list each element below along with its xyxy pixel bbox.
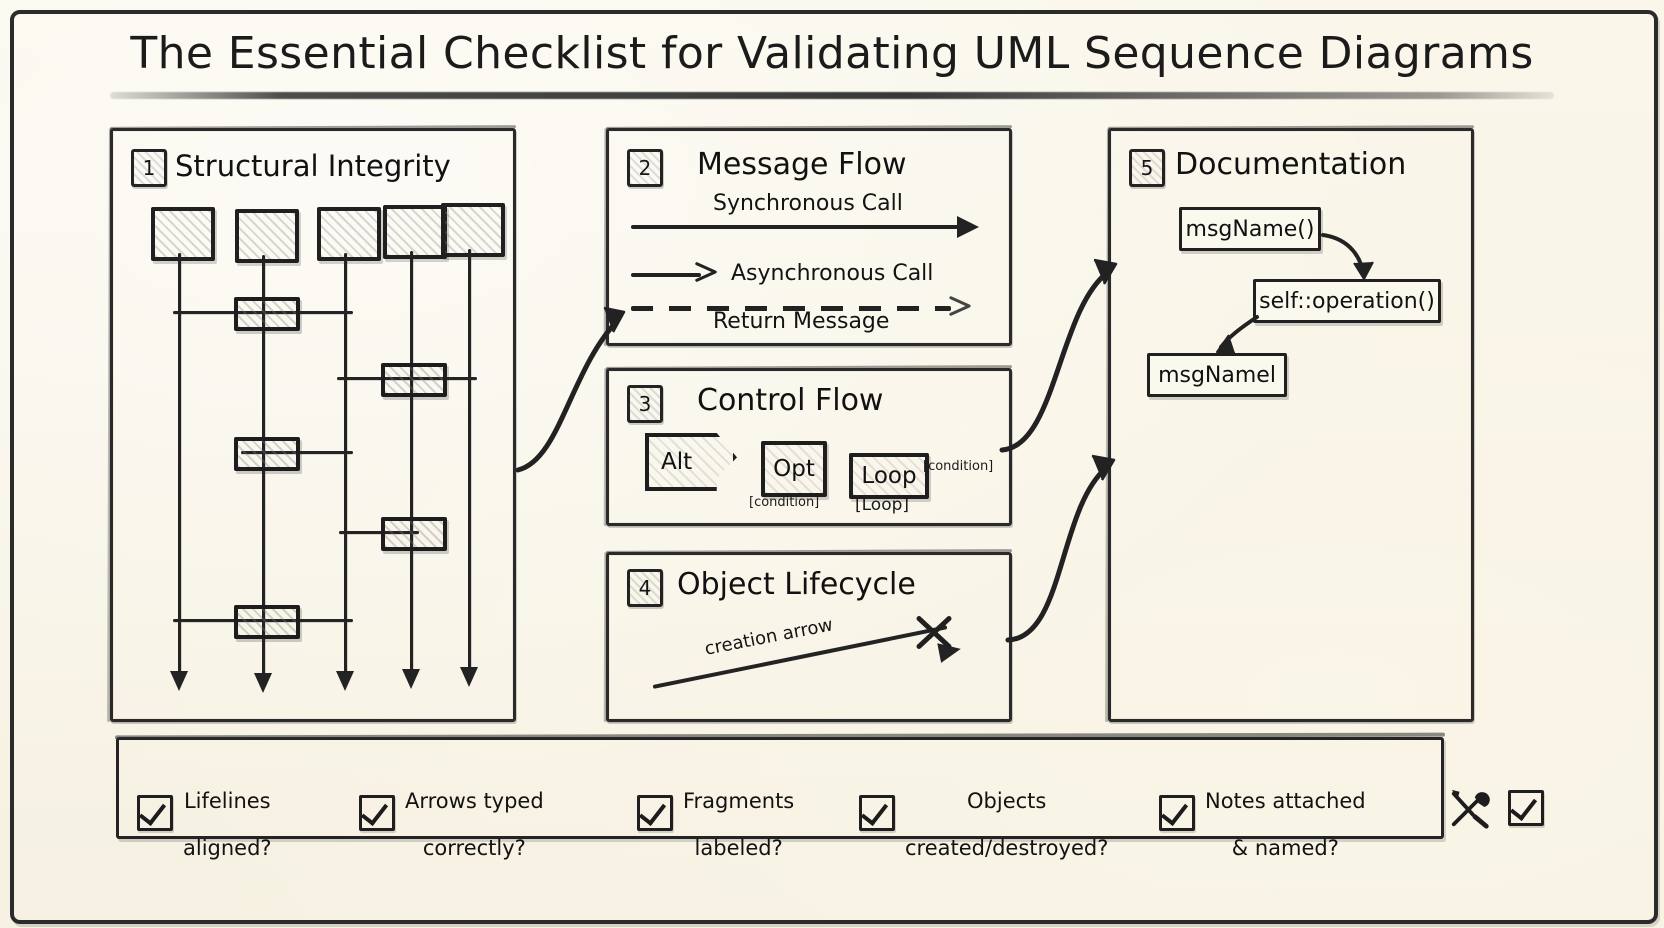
panel-title-3: Control Flow [697, 383, 883, 418]
activation-bar[interactable] [381, 363, 447, 397]
note-msgname[interactable]: msgName() [1179, 207, 1321, 251]
fragment-alt-label: Alt [661, 449, 692, 475]
checklist-line1: Objects [967, 789, 1046, 813]
panel-number-badge-3: 3 [627, 385, 663, 423]
panel-number-badge-4: 4 [627, 569, 663, 607]
lifeline-stem [468, 249, 471, 675]
fragment-opt-label: Opt [773, 456, 815, 482]
async-call-label: Asynchronous Call [731, 261, 933, 286]
lifeline-end-arrow [460, 667, 478, 687]
checkbox-icon[interactable] [137, 795, 173, 831]
lifeline-head[interactable] [235, 209, 299, 263]
panel-object-lifecycle[interactable]: 4 Object Lifecycle creation arrow [606, 552, 1012, 722]
note-self-operation[interactable]: self::operation() [1253, 279, 1441, 323]
title-underline [110, 92, 1554, 99]
activation-bar[interactable] [234, 605, 300, 639]
fragment-alt[interactable]: Alt [645, 433, 737, 491]
sync-call-label: Synchronous Call [713, 191, 903, 216]
checkbox-icon[interactable] [637, 795, 673, 831]
lifeline-head[interactable] [441, 203, 505, 257]
checklist-line2: aligned? [183, 836, 272, 860]
panel-title-4: Object Lifecycle [677, 567, 916, 602]
note-msgnamel[interactable]: msgNamel [1147, 353, 1287, 397]
activation-bar[interactable] [234, 297, 300, 331]
panel-title-1: Structural Integrity [175, 149, 451, 183]
page-title: The Essential Checklist for Validating U… [0, 28, 1664, 79]
checklist-line1: Arrows typed [405, 789, 544, 813]
panel-structural-integrity[interactable]: 1 Structural Integrity [110, 128, 516, 722]
return-message-arrow-head [949, 295, 971, 317]
activation-bar[interactable] [234, 437, 300, 471]
panel-number-badge-2: 2 [627, 149, 663, 187]
panel-documentation[interactable]: 5 Documentation msgName() self::operatio… [1108, 128, 1474, 722]
checkbox-icon[interactable] [359, 795, 395, 831]
fragment-loop[interactable]: Loop [849, 453, 929, 499]
lifeline-stem [410, 251, 413, 675]
checklist-line2: & named? [1232, 836, 1339, 860]
checklist-line1: Fragments [683, 789, 794, 813]
checklist-label-objects: Objects created/destroyed? [905, 766, 1108, 860]
return-message-label: Return Message [713, 309, 889, 334]
lifeline-stem [178, 253, 181, 675]
panel-control-flow[interactable]: 3 Control Flow Alt Opt [condition] Loop … [606, 368, 1012, 526]
checklist-line1: Notes attached [1205, 789, 1366, 813]
checklist-label-lifelines: Lifelines aligned? [183, 766, 272, 860]
fragment-opt-condition: [condition] [749, 495, 819, 510]
activation-bar[interactable] [381, 517, 447, 551]
checklist-label-notes: Notes attached & named? [1205, 766, 1366, 860]
checklist-item-notes[interactable]: Notes attached & named? [1159, 766, 1366, 860]
async-call-arrow-head [695, 261, 717, 283]
panel-title-5: Documentation [1175, 147, 1406, 182]
checkbox-icon[interactable] [859, 795, 895, 831]
checkbox-icon[interactable] [1159, 795, 1195, 831]
sync-call-arrow-line [631, 225, 961, 229]
checklist-label-arrows: Arrows typed correctly? [405, 766, 544, 860]
fragment-loop-guard: [condition] [923, 459, 993, 474]
lifeline-end-arrow [402, 669, 420, 689]
footer-checkbox-icon[interactable] [1508, 790, 1544, 826]
checklist-bar: Lifelines aligned? Arrows typed correctl… [116, 737, 1444, 839]
lifeline-head[interactable] [151, 207, 215, 261]
checklist-line2: created/destroyed? [905, 836, 1108, 860]
panel-number-badge-1: 1 [131, 149, 167, 187]
panel-title-2: Message Flow [697, 147, 907, 182]
fragment-loop-label: Loop [861, 463, 916, 489]
lifeline-end-arrow [336, 671, 354, 691]
destruction-x-icon [911, 609, 957, 655]
lifeline-end-arrow [170, 671, 188, 691]
diagram-stage: The Essential Checklist for Validating U… [0, 0, 1664, 928]
checklist-line2: labeled? [695, 836, 783, 860]
fragment-loop-condition: [Loop] [855, 495, 909, 515]
lifeline-head[interactable] [383, 205, 447, 259]
lifeline-head[interactable] [317, 207, 381, 261]
sync-call-arrow-head [957, 216, 979, 238]
checklist-item-lifelines[interactable]: Lifelines aligned? [137, 766, 272, 860]
checklist-line2: correctly? [423, 836, 526, 860]
checklist-item-arrows[interactable]: Arrows typed correctly? [359, 766, 544, 860]
tools-icon[interactable] [1448, 786, 1494, 830]
panel-number-badge-5: 5 [1129, 149, 1165, 187]
lifeline-end-arrow [254, 673, 272, 693]
panel-message-flow[interactable]: 2 Message Flow Synchronous Call Asynchro… [606, 128, 1012, 346]
lifeline-stem [344, 253, 347, 675]
checklist-label-fragments: Fragments labeled? [683, 766, 794, 860]
checklist-item-fragments[interactable]: Fragments labeled? [637, 766, 794, 860]
fragment-opt[interactable]: Opt [761, 441, 827, 497]
checklist-line1: Lifelines [184, 789, 271, 813]
checklist-item-objects[interactable]: Objects created/destroyed? [859, 766, 1108, 860]
async-call-arrow-line [631, 273, 701, 277]
